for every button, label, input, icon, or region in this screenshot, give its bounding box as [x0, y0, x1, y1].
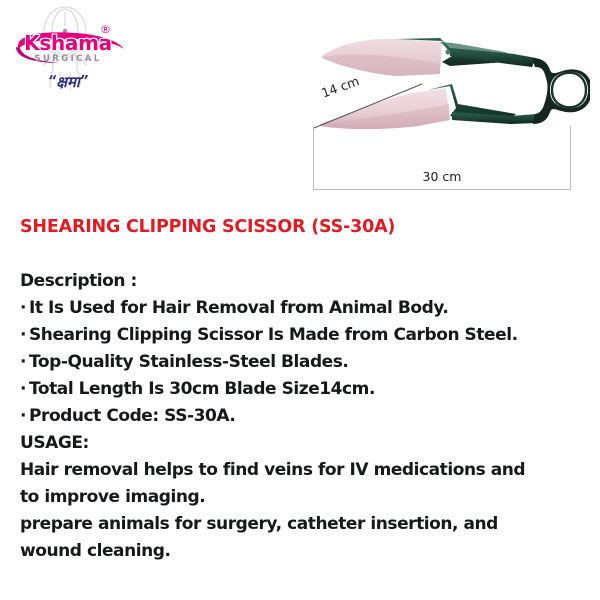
- product-title: SHEARING CLIPPING SCISSOR (SS-30A): [20, 217, 395, 237]
- brand-logo: Kshama ® SURGICAL “क्षमा”: [8, 4, 128, 104]
- usage-line: Hair removal helps to find veins for IV …: [20, 457, 586, 484]
- description-bullet-text: Shearing Clipping Scissor Is Made from C…: [29, 325, 518, 345]
- usage-line: wound cleaning.: [20, 538, 586, 565]
- quote-close: ”: [80, 74, 88, 89]
- description-bullet: ·Top-Quality Stainless-Steel Blades.: [20, 349, 586, 376]
- bullet-icon: ·: [20, 295, 29, 322]
- description-bullet: ·It Is Used for Hair Removal from Animal…: [20, 295, 586, 322]
- devanagari-word: क्षमा: [56, 73, 80, 91]
- description-bullet-text: It Is Used for Hair Removal from Animal …: [29, 298, 448, 318]
- quote-open: “: [48, 74, 56, 89]
- bullet-icon: ·: [20, 403, 29, 430]
- usage-heading: USAGE:: [20, 430, 586, 457]
- description-bullet: ·Total Length Is 30cm Blade Size14cm.: [20, 376, 586, 403]
- product-description-block: Description : ·It Is Used for Hair Remov…: [20, 268, 586, 565]
- bullet-icon: ·: [20, 349, 29, 376]
- usage-line: to improve imaging.: [20, 484, 586, 511]
- total-length-dimension-box: 30 cm: [313, 126, 571, 190]
- logo-devanagari-text: “क्षमा”: [8, 72, 128, 92]
- usage-line: prepare animals for surgery, catheter in…: [20, 511, 586, 538]
- description-bullet: ·Product Code: SS-30A.: [20, 403, 586, 430]
- description-bullet-text: Product Code: SS-30A.: [29, 406, 235, 426]
- logo-subtitle-text: SURGICAL: [8, 54, 128, 64]
- bullet-icon: ·: [20, 322, 29, 349]
- registered-trademark-icon: ®: [100, 24, 111, 35]
- description-bullet-text: Top-Quality Stainless-Steel Blades.: [29, 352, 348, 372]
- bullet-icon: ·: [20, 376, 29, 403]
- total-length-dimension-label: 30 cm: [314, 169, 570, 184]
- description-bullet: ·Shearing Clipping Scissor Is Made from …: [20, 322, 586, 349]
- description-heading: Description :: [20, 268, 586, 295]
- description-bullet-text: Total Length Is 30cm Blade Size14cm.: [29, 379, 375, 399]
